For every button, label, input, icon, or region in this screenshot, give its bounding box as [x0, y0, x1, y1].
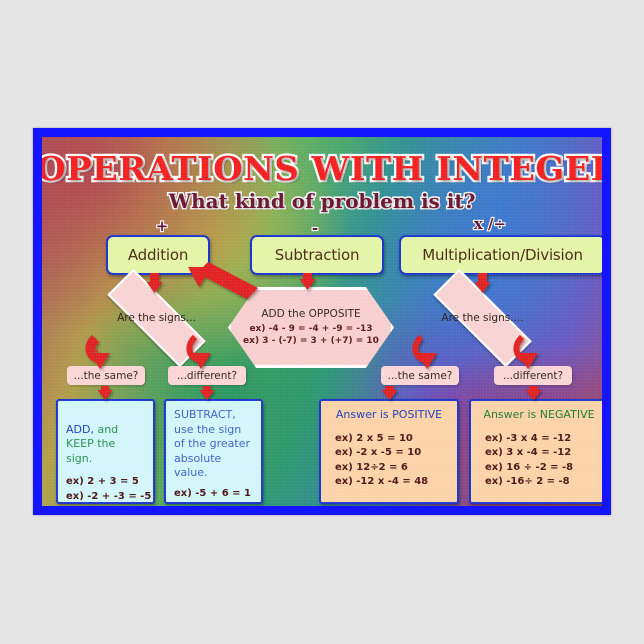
arrow-same-to-add-box	[98, 386, 113, 400]
arrow-multiplication-to-decision	[475, 273, 491, 293]
decision-label-multiplication: Are the signs....	[410, 292, 555, 344]
screenshot-canvas: OPERATIONS WITH INTEGERS What kind of pr…	[0, 0, 644, 644]
poster-artwork: OPERATIONS WITH INTEGERS What kind of pr…	[42, 137, 602, 506]
decision-label-addition: Are the signs...	[84, 292, 229, 344]
decision-diamond-addition: Are the signs...	[84, 292, 229, 344]
arrow-different-to-subtract-box	[200, 386, 215, 400]
decision-diamond-multiplication: Are the signs....	[410, 292, 555, 344]
arrow-same-to-positive-box	[382, 386, 398, 400]
arrow-different-to-negative-box	[526, 386, 542, 400]
poster-frame: OPERATIONS WITH INTEGERS What kind of pr…	[33, 128, 611, 515]
arrow-addition-to-decision	[147, 273, 163, 293]
arrow-subtraction-to-hexagon	[300, 273, 316, 290]
